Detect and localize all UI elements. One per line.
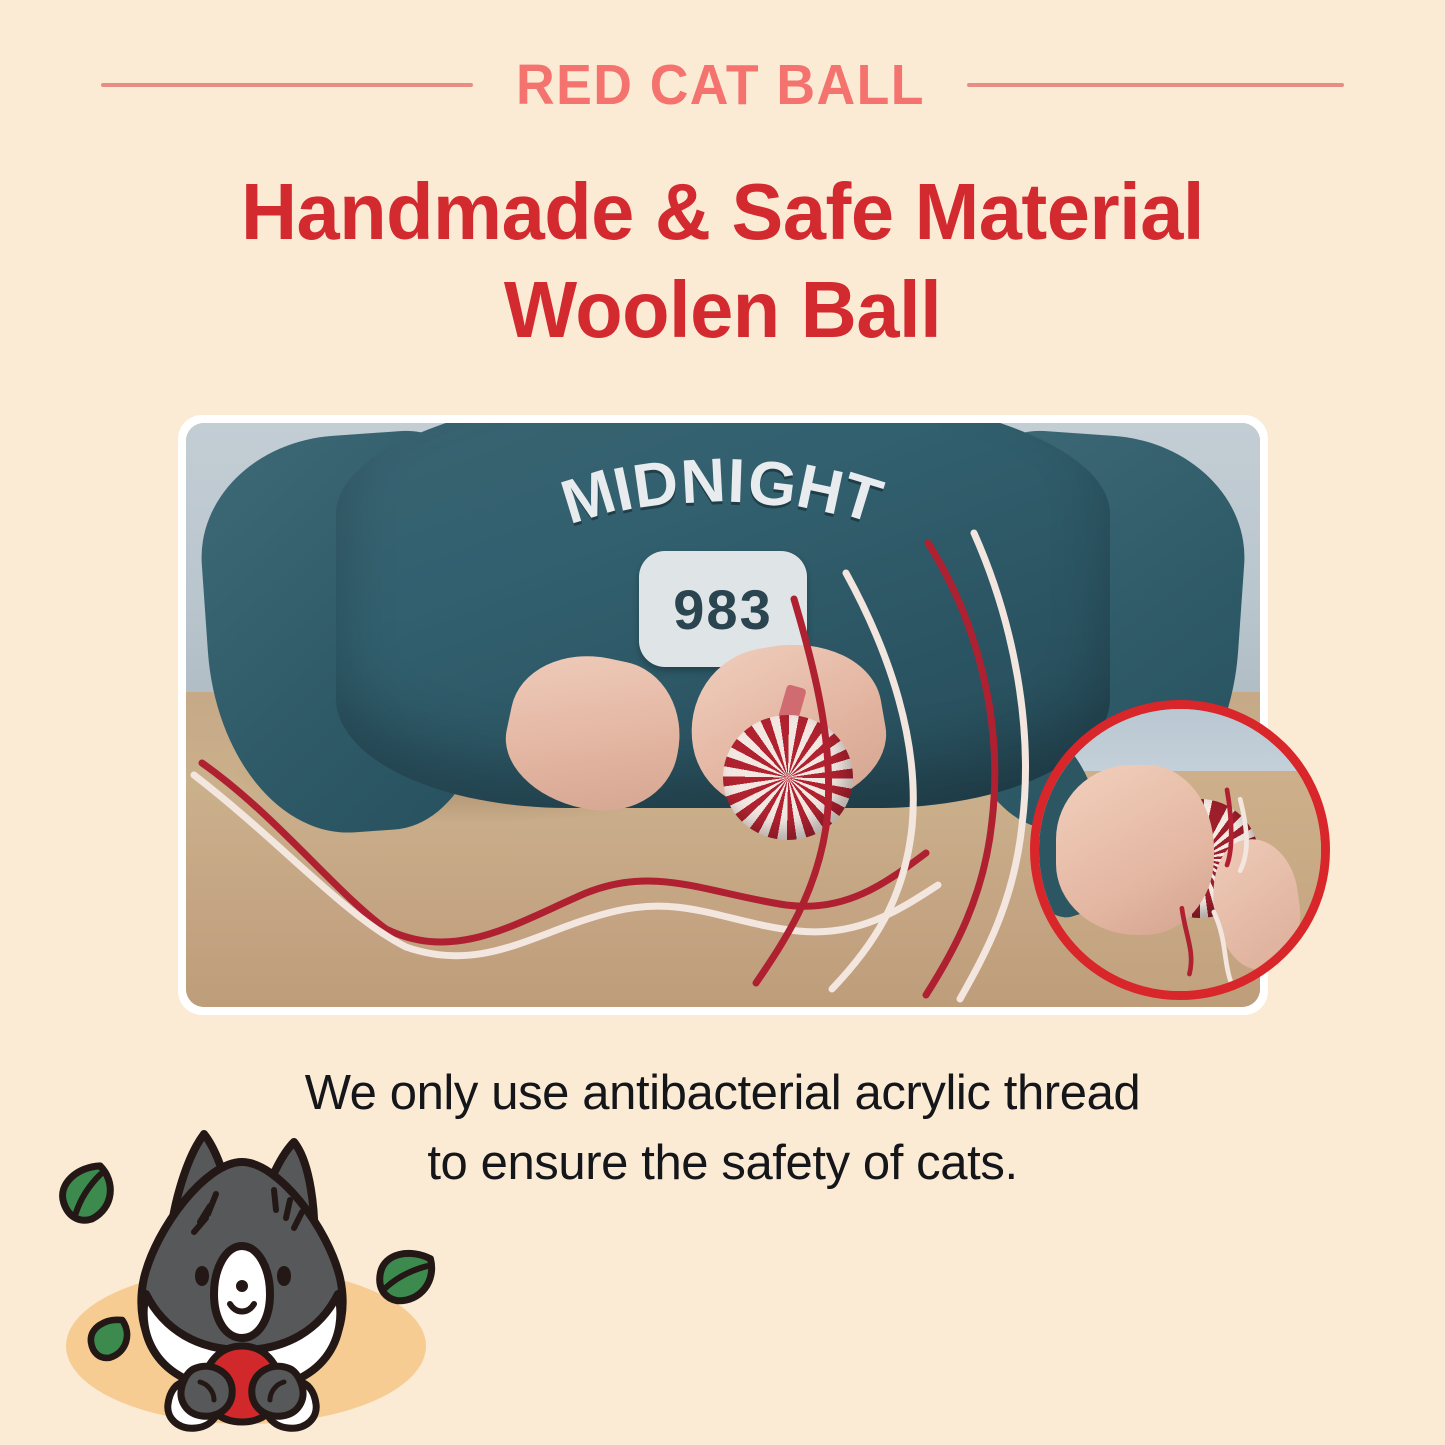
page-title: Handmade & Safe Material Woolen Ball [0,163,1445,360]
cat-mascot-illustration [28,1118,488,1445]
inset-yarn-white-top [1240,799,1246,870]
kicker-label: RED CAT BALL [516,57,925,114]
headline-line-2: Woolen Ball [22,261,1424,359]
cat-nose [236,1280,248,1292]
kicker-rule-left [101,83,473,87]
inset-yarn-strands [1039,709,1321,991]
photo-detail-inset [1030,700,1330,1000]
leaf-icon-right [375,1248,434,1307]
headline-line-1: Handmade & Safe Material [22,163,1424,261]
inset-yarn-red-top [1227,790,1231,865]
inset-yarn-white-bottom [1214,912,1231,982]
cat-eye-right [277,1266,291,1286]
infographic-canvas: RED CAT BALL Handmade & Safe Material Wo… [0,0,1445,1445]
yarn-red-path-3 [926,543,995,995]
kicker-rule-right [967,83,1344,87]
kicker-row: RED CAT BALL [0,46,1445,124]
leaf-icon-upper-left [56,1163,119,1226]
inset-yarn-red-bottom [1182,908,1191,974]
cat-eye-left [195,1266,209,1286]
